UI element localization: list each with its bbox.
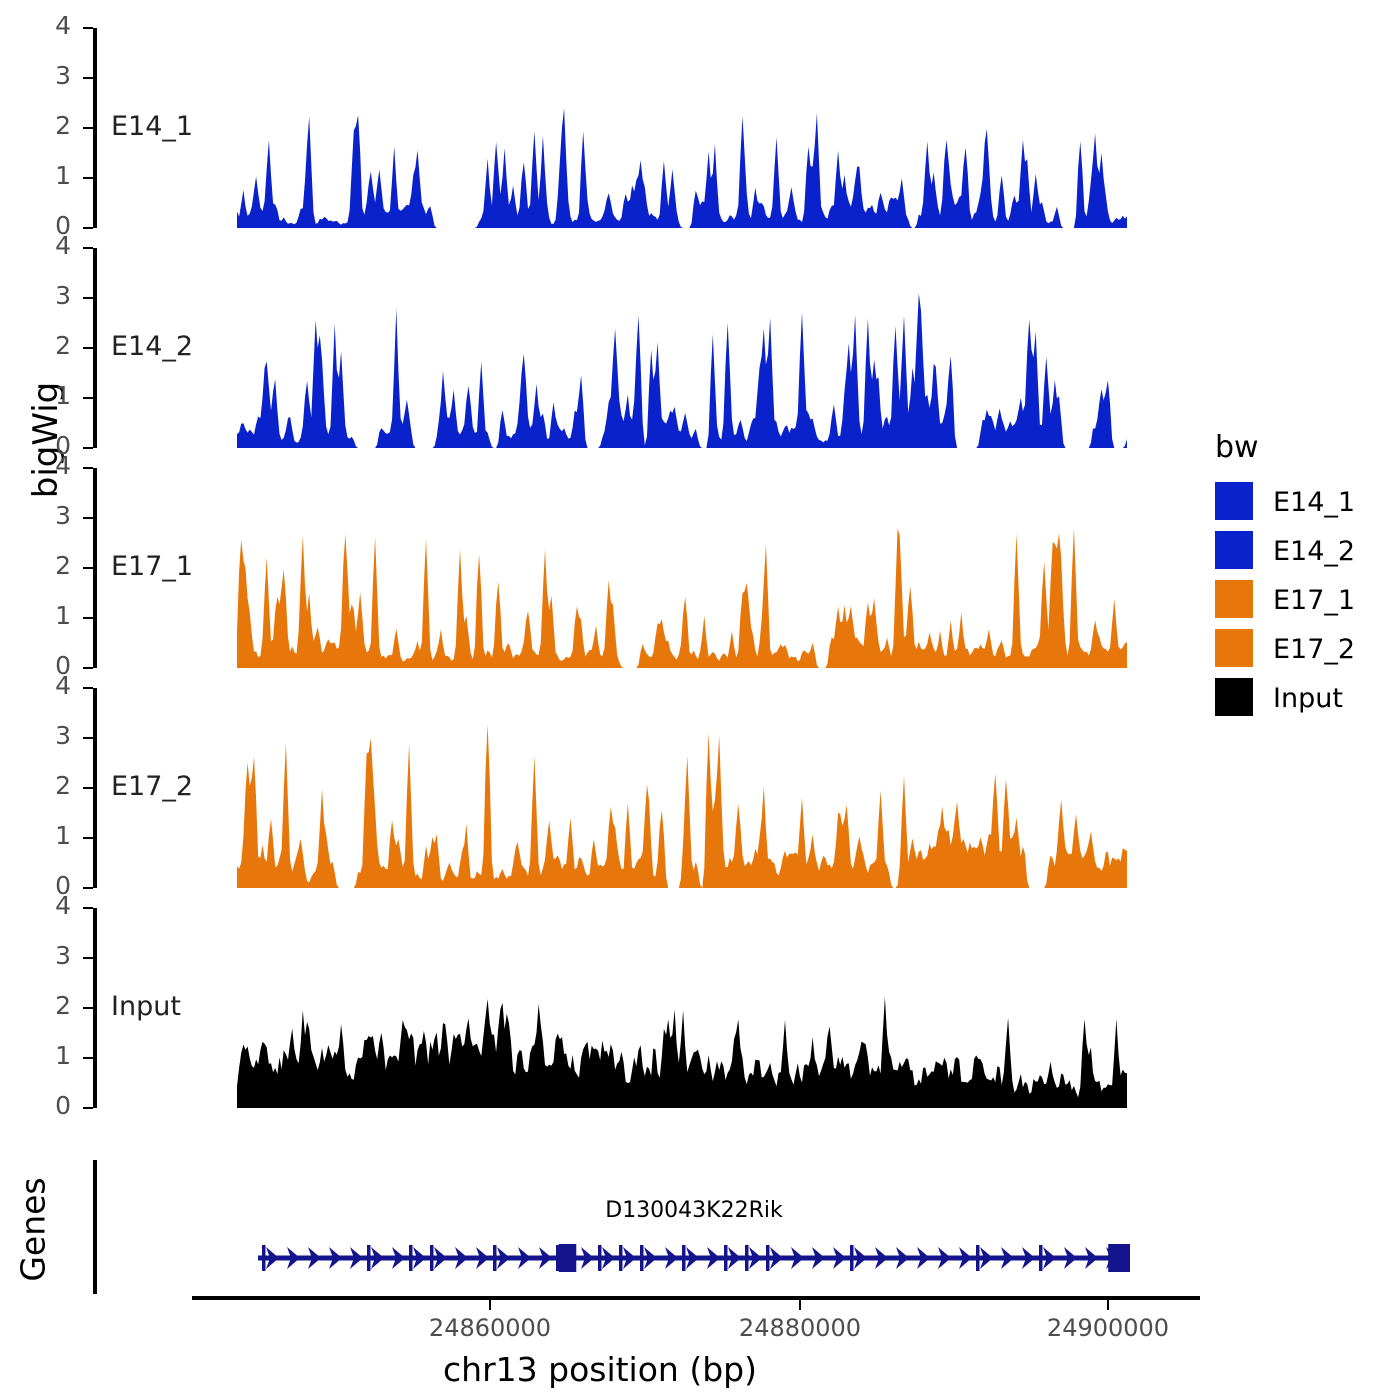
- gene-model[interactable]: [0, 1160, 1180, 1300]
- x-tick-label: 24860000: [390, 1314, 590, 1342]
- x-axis-title: chr13 position (bp): [0, 1350, 1200, 1389]
- legend-label-e17_1: E17_1: [1273, 585, 1355, 616]
- track-panel-e14_2: 01234E14_2: [0, 238, 1180, 458]
- track-panel-e17_1: 01234E17_1: [0, 458, 1180, 678]
- legend: bwE14_1E14_2E17_1E17_2Input: [1215, 430, 1400, 720]
- x-axis: 248600002488000024900000: [0, 1296, 1250, 1356]
- legend-key-e14_2[interactable]: [1215, 531, 1253, 569]
- legend-label-e14_2: E14_2: [1273, 536, 1355, 567]
- genes-panel: GenesD130043K22Rik: [0, 1160, 1180, 1300]
- coverage-area-e14_2: [0, 238, 1180, 458]
- legend-key-e14_1[interactable]: [1215, 482, 1253, 520]
- legend-key-e17_1[interactable]: [1215, 580, 1253, 618]
- legend-key-e17_2[interactable]: [1215, 629, 1253, 667]
- x-tick: [1107, 1300, 1109, 1310]
- x-axis-line: [192, 1296, 1200, 1300]
- coverage-area-input: [0, 898, 1180, 1118]
- legend-label-e14_1: E14_1: [1273, 487, 1355, 518]
- x-tick-label: 24880000: [700, 1314, 900, 1342]
- x-tick: [799, 1300, 801, 1310]
- track-panel-input: 01234Input: [0, 898, 1180, 1118]
- legend-title: bw: [1215, 430, 1259, 465]
- track-panel-e17_2: 01234E17_2: [0, 678, 1180, 898]
- coverage-area-e17_1: [0, 458, 1180, 678]
- x-tick: [489, 1300, 491, 1310]
- coverage-area-e17_2: [0, 678, 1180, 898]
- legend-key-input[interactable]: [1215, 678, 1253, 716]
- legend-label-e17_2: E17_2: [1273, 634, 1355, 665]
- track-panel-e14_1: 01234E14_1: [0, 18, 1180, 238]
- legend-label-input: Input: [1273, 683, 1343, 714]
- coverage-area-e14_1: [0, 18, 1180, 238]
- x-tick-label: 24900000: [1008, 1314, 1208, 1342]
